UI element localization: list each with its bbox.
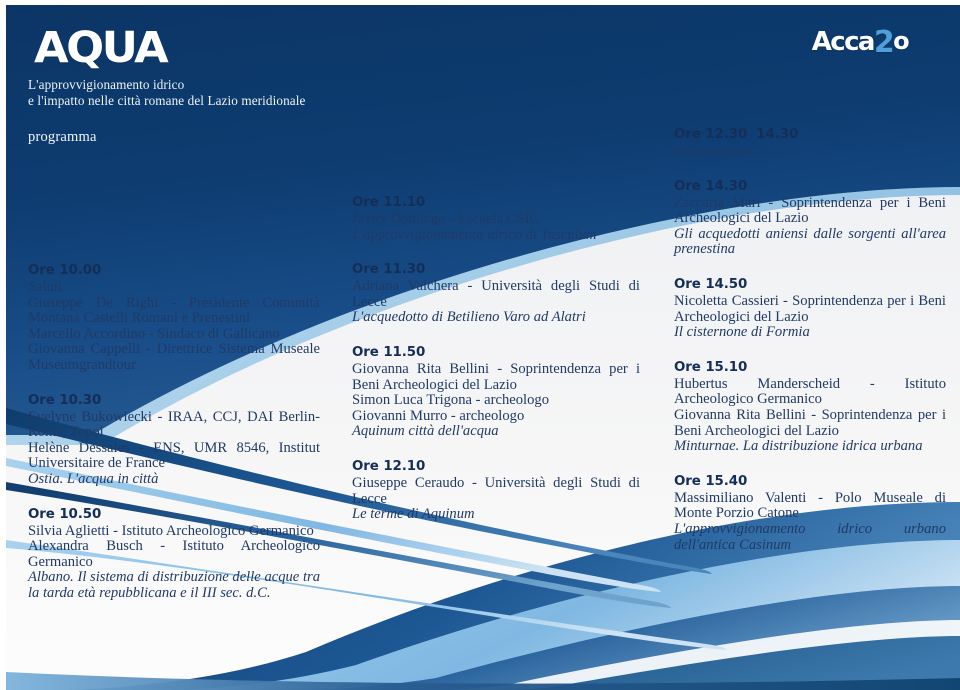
slot-time: Ore 12.10 <box>352 459 640 474</box>
programme-slot: Ore 10.50Silvia Aglietti - Istituto Arch… <box>28 507 320 602</box>
slot-speaker-line: Adriana Valchera - Università degli Stud… <box>352 279 640 310</box>
slot-time: Ore 10.00 <box>28 263 320 278</box>
slot-speaker-line: Javier Domingo - Escuela CSIC <box>352 212 640 228</box>
slot-speaker-line: Evelyne Bukowiecki - IRAA, CCJ, DAI Berl… <box>28 410 320 441</box>
programme-column-2: Ore 11.10Javier Domingo - Escuela CSICL'… <box>352 195 640 523</box>
slot-time: Ore 11.30 <box>352 262 640 277</box>
slot-title-line: Minturnae. La distribuzione idrica urban… <box>674 439 946 455</box>
slot-speaker-line: Saluti <box>28 280 320 296</box>
acca2o-prefix: Acca <box>812 27 874 57</box>
acca2o-sponsor-logo: Acca2o <box>812 26 908 56</box>
slot-title-line: Albano. Il sistema di distribuzione dell… <box>28 570 320 601</box>
slot-speaker-line: Alexandra Busch - Istituto Archeologico … <box>28 539 320 570</box>
aqua-logo: AQUA <box>34 27 166 70</box>
slot-time: Ore 11.50 <box>352 345 640 360</box>
slot-speaker-line: Massimiliano Valenti - Polo Museale di M… <box>674 491 946 522</box>
slot-time: Ore 10.30 <box>28 393 320 408</box>
slot-speaker-line: Simon Luca Trigona - archeologo <box>352 393 640 409</box>
poster-subtitle: L'approvvigionamento idrico e l'impatto … <box>28 77 305 109</box>
subtitle-line-1: L'approvvigionamento idrico <box>28 77 305 93</box>
slot-time: Ore 14.30 <box>674 179 946 194</box>
slot-speaker-line: Helène Dessales - ENS, UMR 8546, Institu… <box>28 441 320 472</box>
slot-time: Ore 10.50 <box>28 507 320 522</box>
acca2o-digit-two: 2 <box>874 28 893 58</box>
subtitle-line-2: e l'impatto nelle città romane del Lazio… <box>28 93 305 109</box>
slot-speaker-line: Giovanna Rita Bellini - Soprintendenza p… <box>674 408 946 439</box>
programme-slot: Ore 14.30Zaccaria Mari - Soprintendenza … <box>674 179 946 258</box>
slot-time: Ore 12.30 14.30 <box>674 127 946 142</box>
slot-title-line: Ostia. L'acqua in città <box>28 472 320 488</box>
slot-speaker-line: Giuseppe Ceraudo - Università degli Stud… <box>352 476 640 507</box>
slot-speaker-line: Giovanna Rita Bellini - Soprintendenza p… <box>352 362 640 393</box>
slot-title-line: Il cisternone di Formia <box>674 325 946 341</box>
programme-slot: Ore 11.10Javier Domingo - Escuela CSICL'… <box>352 195 640 243</box>
poster-canvas: AQUA L'approvvigionamento idrico e l'imp… <box>6 5 960 690</box>
slot-title-line: L'approvvigionamento idrico urbano dell'… <box>674 522 946 553</box>
acca2o-suffix: o <box>893 29 908 53</box>
slot-speaker-line: Pausa pranzo <box>674 144 946 160</box>
slot-title-line: Aquinum città dell'acqua <box>352 424 640 440</box>
slot-time: Ore 11.10 <box>352 195 640 210</box>
slot-speaker-line: Hubertus Manderscheid - Istituto Archeol… <box>674 377 946 408</box>
slot-speaker-line: Giovanna Cappelli - Direttrice Sistema M… <box>28 342 320 373</box>
programme-slot: Ore 11.50Giovanna Rita Bellini - Soprint… <box>352 345 640 440</box>
programme-column-3: Ore 12.30 14.30Pausa pranzoOre 14.30Zacc… <box>674 127 946 553</box>
slot-title-line: Gli acquedotti aniensi dalle sorgenti al… <box>674 227 946 258</box>
slot-title-line: Le terme di Aquinum <box>352 507 640 523</box>
slot-speaker-line: Zaccaria Mari - Soprintendenza per i Ben… <box>674 196 946 227</box>
slot-time: Ore 15.40 <box>674 474 946 489</box>
programme-slot: Ore 15.10Hubertus Manderscheid - Istitut… <box>674 360 946 455</box>
programme-slot: Ore 12.10Giuseppe Ceraudo - Università d… <box>352 459 640 523</box>
programme-slot: Ore 15.40Massimiliano Valenti - Polo Mus… <box>674 474 946 553</box>
programme-slot: Ore 10.00SalutiGiuseppe De Righi - Presi… <box>28 263 320 374</box>
slot-speaker-line: Giovanni Murro - archeologo <box>352 409 640 425</box>
slot-speaker-line: Nicoletta Cassieri - Soprintendenza per … <box>674 294 946 325</box>
slot-speaker-line: Marcello Accordino - Sindaco di Gallican… <box>28 327 320 343</box>
slot-time: Ore 15.10 <box>674 360 946 375</box>
programme-slot: Ore 10.30Evelyne Bukowiecki - IRAA, CCJ,… <box>28 393 320 488</box>
slot-speaker-line: Silvia Aglietti - Istituto Archeologico … <box>28 524 320 540</box>
programme-slot: Ore 12.30 14.30Pausa pranzo <box>674 127 946 160</box>
slot-time: Ore 14.50 <box>674 277 946 292</box>
programme-slot: Ore 11.30Adriana Valchera - Università d… <box>352 262 640 326</box>
slot-title-line: L'approvvigionamento idrico di Tusculum <box>352 228 640 244</box>
slot-title-line: L'acquedotto di Betilieno Varo ad Alatri <box>352 310 640 326</box>
poster-page: AQUA L'approvvigionamento idrico e l'imp… <box>0 0 960 690</box>
programme-slot: Ore 14.50Nicoletta Cassieri - Soprintend… <box>674 277 946 341</box>
programme-label: programma <box>28 129 97 146</box>
programme-column-1: Ore 10.00SalutiGiuseppe De Righi - Presi… <box>28 263 320 602</box>
slot-speaker-line: Giuseppe De Righi - Presidente Comunità … <box>28 296 320 327</box>
